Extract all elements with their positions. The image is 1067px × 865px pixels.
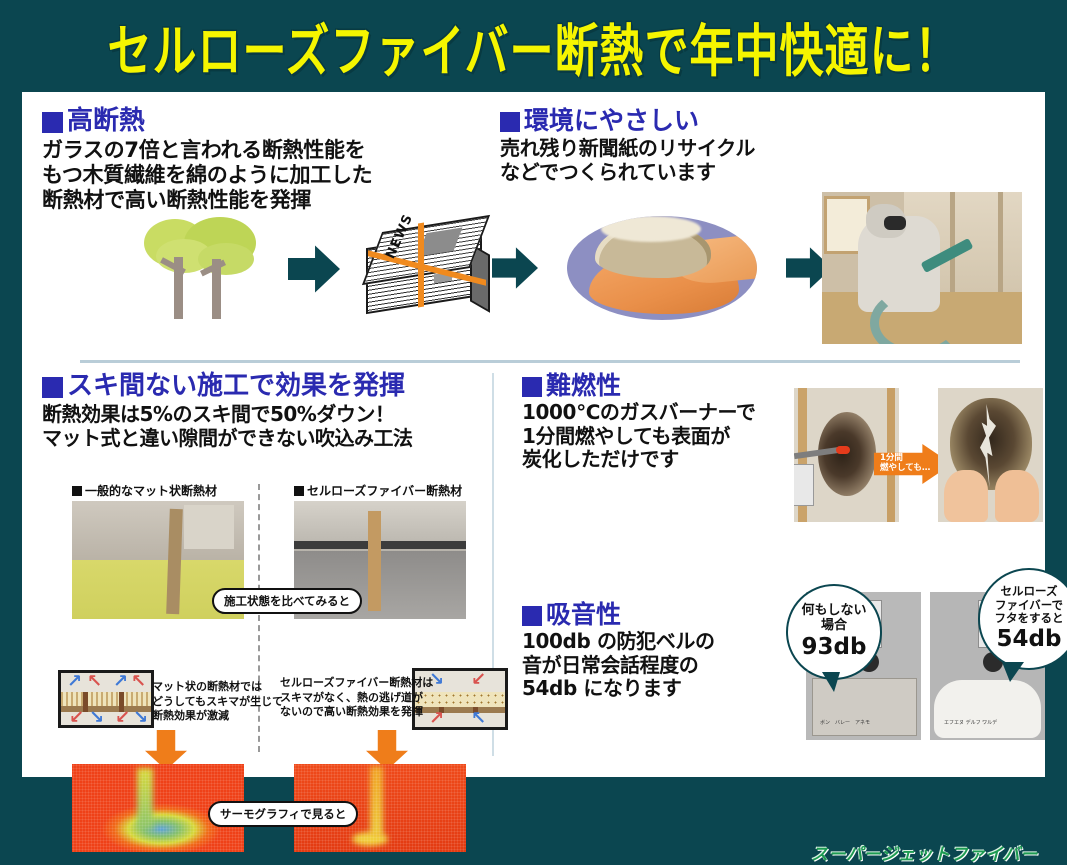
caption-text: 一般的なマット状断熱材	[85, 482, 217, 499]
bubble-value: 54db	[997, 626, 1062, 653]
pill-compare-construction: 施工状態を比べてみると	[212, 588, 362, 614]
caption-text: セルローズファイバー断熱材	[307, 482, 462, 499]
charred-surface-hands-photo	[938, 388, 1043, 522]
heat-arrow-red: ↙	[471, 671, 486, 689]
section-body-eco-friendly: 売れ残り新聞紙のリサイクル などでつくられています	[500, 137, 830, 184]
section-heading-fire-resistance: 難燃性	[522, 373, 792, 399]
bullet-square-icon	[522, 377, 542, 397]
brand-logo-text: スーパージェットファイバー	[802, 840, 1047, 865]
section-heading-gapless: スキ間ない施工で効果を発揮	[42, 373, 492, 400]
section-body-gapless: 断熱効果は5%のスキ間で50%ダウン！ マット式と違い隙間ができない吹込み工法	[42, 403, 492, 450]
flow-trees-to-newspaper: NEWS	[140, 214, 490, 324]
bullet-square-icon	[522, 606, 542, 626]
photo-post	[368, 511, 381, 611]
section-heading-high-insulation: 高断熱	[42, 108, 492, 135]
poster-header: セルローズファイバー断熱で年中快適に！	[0, 0, 1067, 92]
arrow-right-icon	[492, 246, 538, 290]
photo-gas-can	[794, 464, 814, 506]
speech-bubble-no-cover: 何もしない 場合 93db	[786, 584, 882, 680]
section-body-high-insulation: ガラスの7倍と言われる断熱性能を もつ木質繊維を綿のように加工した 断熱材で高い…	[42, 138, 492, 212]
horizontal-divider	[80, 360, 1020, 363]
bullet-square-icon	[500, 112, 520, 132]
hand-with-cellulose-photo	[567, 216, 757, 320]
heading-text: スキ間ない施工で効果を発揮	[67, 373, 405, 400]
section-high-insulation: 高断熱 ガラスの7倍と言われる断熱性能を もつ木質繊維を綿のように加工した 断熱…	[42, 108, 492, 213]
caption-cellulose-insulation: セルローズファイバー断熱材	[294, 482, 462, 499]
heat-arrow-blue: ↗	[67, 673, 82, 691]
photo-print-mark	[190, 511, 220, 537]
heat-arrow-red: ↖	[131, 673, 146, 691]
photo-box-label: エフエヌ デルフ ワルデ	[944, 719, 997, 726]
worker-blowing-insulation-photo	[822, 192, 1022, 344]
heat-arrow-blue: ↗	[113, 673, 128, 691]
pill-thermography: サーモグラフィで見ると	[208, 801, 358, 827]
diagram-mat-fibers	[61, 692, 151, 706]
section-gapless-construction: スキ間ない施工で効果を発揮 断熱効果は5%のスキ間で50%ダウン！ マット式と違…	[42, 373, 492, 450]
section-heading-sound-absorption: 吸音性	[522, 602, 792, 628]
heading-text: 環境にやさしい	[524, 108, 699, 134]
arrow-label-text: 1分間 燃やしても…	[880, 454, 930, 474]
diagram-mat-heat-escape: ↗ ↖ ↗ ↖ ↙ ↘ ↙ ↘	[58, 670, 154, 728]
photo-cellulose-cover	[934, 680, 1041, 738]
heading-text: 高断熱	[67, 108, 145, 135]
note-cellulose-insulation: セルローズファイバー断熱材は スキマがなく、熱の逃げ道が ないので高い断熱効果を…	[280, 676, 433, 720]
photo-hand-right	[995, 470, 1039, 522]
flow-hand-cellulose	[492, 210, 832, 326]
bullet-square-icon	[42, 112, 63, 133]
heat-arrow-blue: ↘	[89, 709, 104, 727]
section-eco-friendly: 環境にやさしい 売れ残り新聞紙のリサイクル などでつくられています	[500, 108, 830, 184]
bullet-square-icon	[72, 486, 82, 496]
arrow-right-icon	[288, 244, 340, 294]
section-fire-resistance: 難燃性 1000℃のガスバーナーで 1分間燃やしても表面が 炭化しただけです	[522, 373, 792, 472]
section-sound-absorption: 吸音性 100db の防犯ベルの 音が日常会話程度の 54db になります	[522, 602, 792, 701]
section-body-sound-absorption: 100db の防犯ベルの 音が日常会話程度の 54db になります	[522, 630, 792, 701]
heat-arrow-blue: ↘	[133, 709, 148, 727]
section-body-fire-resistance: 1000℃のガスバーナーで 1分間燃やしても表面が 炭化しただけです	[522, 401, 792, 472]
photo-worker-mask	[884, 216, 906, 230]
content-board: 高断熱 ガラスの7倍と言われる断熱性能を もつ木質繊維を綿のように加工した 断熱…	[22, 92, 1045, 777]
bubble-label: セルローズ ファイバーで フタをすると	[995, 585, 1064, 626]
caption-mat-insulation: 一般的なマット状断熱材	[72, 482, 217, 499]
heat-arrow-red: ↙	[115, 709, 130, 727]
bullet-square-icon	[42, 377, 63, 398]
heat-arrow-red: ↖	[87, 673, 102, 691]
photo-box-label: ボン バレー アネモ	[820, 719, 870, 726]
newspaper-bundle-illustration: NEWS	[360, 221, 490, 317]
photo-flame	[836, 446, 850, 454]
note-mat-insulation: マット状の断熱材では どうしてもスキマが生じて 断熱効果が激減	[152, 680, 283, 724]
heading-text: 吸音性	[546, 602, 621, 628]
heat-arrow-red: ↙	[69, 709, 84, 727]
trees-illustration	[140, 217, 268, 321]
bubble-value: 93db	[802, 634, 867, 661]
bubble-label: 何もしない 場合	[801, 603, 866, 634]
heading-text: 難燃性	[546, 373, 621, 399]
photo-hand-left	[944, 470, 988, 522]
heat-arrow-blue: ↖	[471, 710, 486, 728]
cellulose-fluff	[595, 224, 711, 278]
poster-root: セルローズファイバー断熱で年中快適に！ 高断熱 ガラスの7倍と言われる断熱性能を…	[0, 0, 1067, 800]
page-title: セルローズファイバー断熱で年中快適に！	[108, 5, 960, 87]
section-heading-eco-friendly: 環境にやさしい	[500, 108, 830, 134]
bullet-square-icon	[294, 486, 304, 496]
